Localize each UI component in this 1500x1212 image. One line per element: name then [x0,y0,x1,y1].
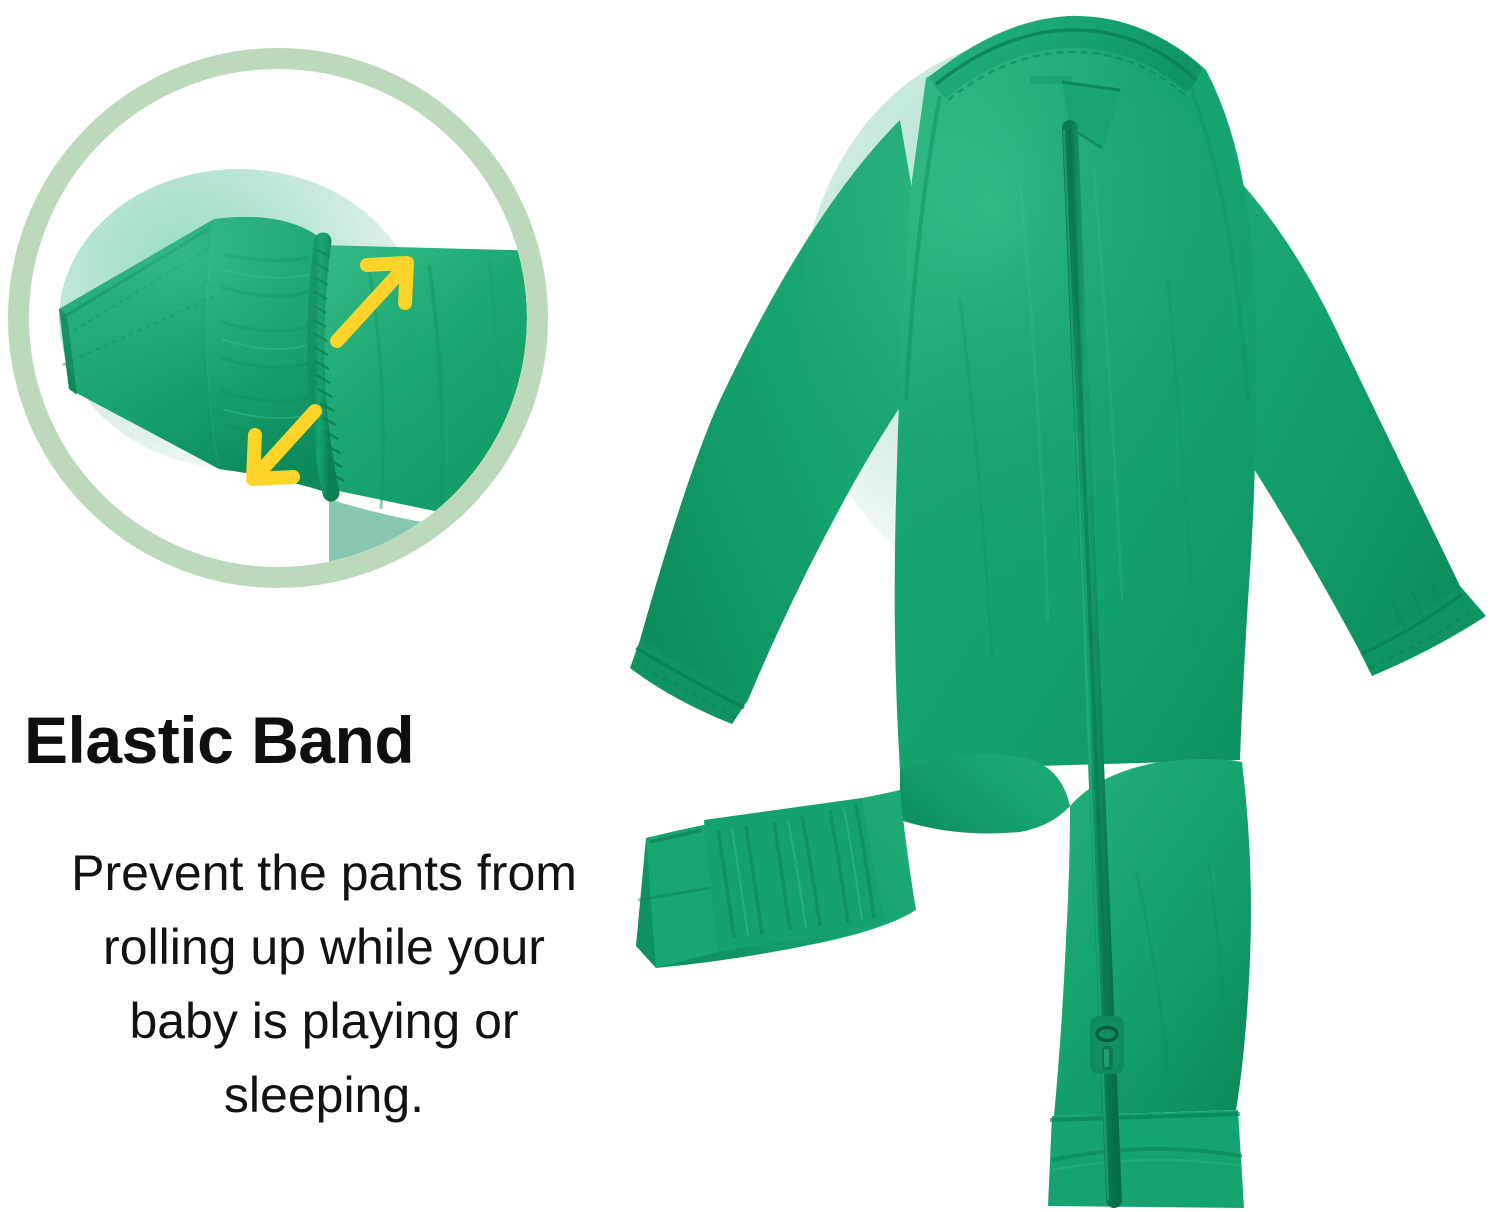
feature-description-line-4: sleeping. [0,1058,648,1132]
feature-description-line-3: baby is playing or [0,984,648,1058]
elastic-band-callout [8,48,548,588]
feature-left-panel: Elastic Band Prevent the pants from roll… [0,0,660,1212]
product-photo-romper [600,0,1500,1212]
zipper-pull [1090,1016,1124,1074]
feature-title: Elastic Band [24,702,584,778]
callout-ring-border [8,48,548,588]
right-leg [1054,759,1251,1116]
feature-description: Prevent the pants from rolling up while … [0,836,648,1132]
feature-description-line-2: rolling up while your [0,910,648,984]
romper-illustration [600,0,1500,1212]
feature-description-line-1: Prevent the pants from [0,836,648,910]
